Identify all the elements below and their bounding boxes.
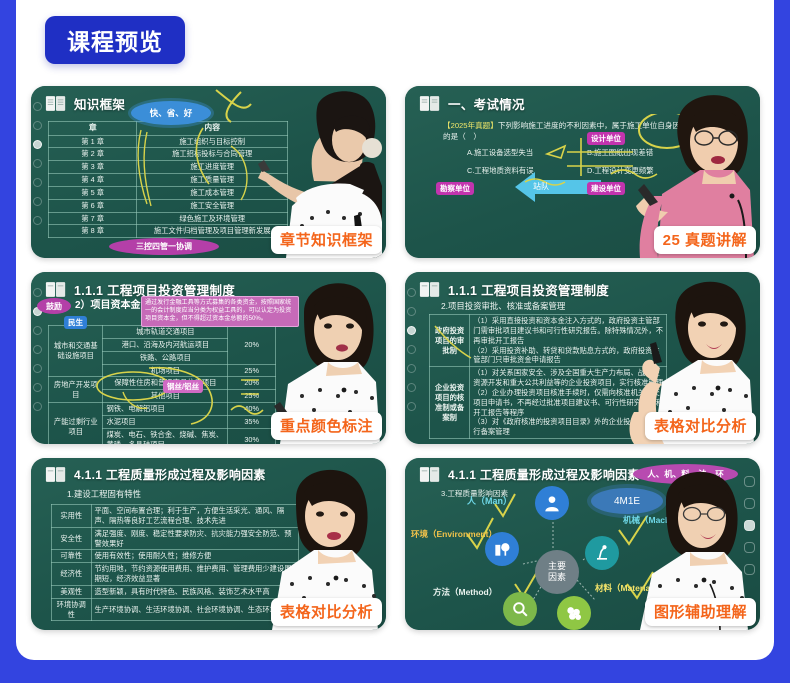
section-label: 1.建设工程固有特性	[67, 488, 141, 500]
chip-minsheng: 民生	[64, 316, 87, 329]
node-material	[557, 596, 591, 630]
preview-card-1[interactable]: 知识框架 快、省、好 章 内容	[31, 86, 386, 258]
book-icon	[45, 281, 67, 298]
node-machine	[585, 536, 619, 570]
option-c: C.工程地质资料有误	[467, 166, 587, 177]
question-tag: 【2025年真题】	[443, 121, 498, 130]
option-a: A.施工设备选型失当	[467, 148, 587, 159]
preview-panel: 课程预览 知识框架	[16, 0, 774, 660]
card-title: 1.1.1 工程项目投资管理制度	[448, 280, 609, 299]
encourage-label: 鼓励	[46, 301, 62, 312]
arrow-label: 站队	[533, 181, 549, 193]
card-tag: 表格对比分析	[271, 598, 382, 626]
center-node-label: 主要因素	[547, 561, 567, 584]
course-preview-grid: 知识框架 快、省、好 章 内容	[31, 86, 775, 644]
magnifier-icon	[511, 600, 530, 619]
player-left-rail	[32, 102, 44, 248]
cloud-callout: 快、省、好	[131, 101, 211, 125]
callout-survey-unit: 勘察单位	[436, 182, 474, 195]
section-label: 2.项目投资审批、核准或备案管理	[441, 300, 565, 312]
node-method	[503, 592, 537, 626]
table-row: 房地产开发项目保障性住房和普通商品住房项目20%	[49, 377, 276, 390]
footer-callout: 三控四管一协调	[109, 238, 219, 255]
investment-table-wrap: 城市和交通基础设施项目城市轨道交通项目20% 港口、沿海及内河航运项目 铁路、公…	[48, 325, 276, 444]
page-title: 课程预览	[67, 23, 163, 57]
player-left-rail	[406, 288, 418, 434]
tree-building-icon	[492, 539, 512, 559]
table-row: 第 8 章施工文件归档管理及项目管理新发展	[49, 225, 288, 238]
book-icon	[45, 95, 67, 112]
pipes-icon	[564, 603, 584, 623]
node-label-man: 人（Man）	[467, 494, 512, 507]
page-title-badge: 课程预览	[45, 16, 185, 64]
card-title: 4.1.1 工程质量形成过程及影响因素	[448, 466, 640, 483]
card-title: 一、考试情况	[448, 94, 525, 113]
card-tag: 25 真题讲解	[654, 226, 756, 254]
book-icon	[419, 281, 441, 298]
card-tag: 图形辅助理解	[645, 598, 756, 626]
row-label: 企业投资项目的核准制或备案制	[430, 367, 470, 439]
book-icon	[419, 466, 441, 483]
preview-card-6[interactable]: 4.1.1 工程质量形成过程及影响因素 人、机、料、法、环 3.工程质量影响因素…	[405, 458, 760, 630]
person-icon	[542, 493, 562, 513]
chapter-table: 章 内容 第 1 章施工组织与目标控制 第 2 章施工招标投标与合同管理 第 3…	[48, 121, 288, 238]
book-icon	[45, 466, 67, 483]
investment-table: 城市和交通基础设施项目城市轨道交通项目20% 港口、沿海及内河航运项目 铁路、公…	[48, 325, 276, 444]
chip-gangsi: 钢丝/铝丝	[163, 380, 203, 393]
chapter-table-wrap: 章 内容 第 1 章施工组织与目标控制 第 2 章施工招标投标与合同管理 第 3…	[48, 121, 288, 238]
node-center: 主要因素	[535, 550, 579, 594]
table-row: 第 5 章施工成本管理	[49, 186, 288, 199]
preview-card-3[interactable]: 1.1.1 工程项目投资管理制度 鼓励 2）项目资本金比例 通过发行金融工具等方…	[31, 272, 386, 444]
card-tag: 章节知识框架	[271, 226, 382, 254]
th-chapter: 章	[49, 122, 137, 136]
card-title: 知识框架	[74, 94, 125, 113]
table-row: 第 1 章施工组织与目标控制	[49, 135, 288, 148]
table-row: 第 3 章施工进度管理	[49, 161, 288, 174]
card-title: 4.1.1 工程质量形成过程及影响因素	[74, 466, 266, 483]
callout-design-unit: 设计单位	[587, 132, 625, 145]
row-label: 政府投资项目的审批制	[430, 315, 470, 367]
table-row: 第 7 章绿色施工及环境管理	[49, 212, 288, 225]
node-person	[535, 486, 569, 520]
node-label-method: 方法（Method）	[433, 586, 497, 598]
encourage-bubble: 鼓励	[37, 298, 71, 314]
table-row: 第 2 章施工招标投标与合同管理	[49, 148, 288, 161]
preview-card-2[interactable]: 一、考试情况 【2025年真题】下列影响施工进度的不利因素中，属于施工单位自身因…	[405, 86, 760, 258]
table-row: 产能过剩行业项目钢铁、电解铝项目40%	[49, 403, 276, 416]
footer-callout-label: 三控四管一协调	[136, 241, 192, 252]
callout-construction-unit: 建设单位	[587, 182, 625, 195]
preview-card-5[interactable]: 4.1.1 工程质量形成过程及影响因素 1.建设工程固有特性 实用性平面、空间布…	[31, 458, 386, 630]
cloud-label: 快、省、好	[150, 107, 193, 119]
node-label-environment: 环境（Environment）	[411, 528, 497, 540]
card-tag: 表格对比分析	[645, 412, 756, 440]
card-tag: 重点颜色标注	[271, 412, 382, 440]
table-row: 第 4 章施工质量管理	[49, 174, 288, 187]
robot-arm-icon	[592, 543, 612, 563]
preview-card-4[interactable]: 1.1.1 工程项目投资管理制度 2.项目投资审批、核准或备案管理 政府投资项目…	[405, 272, 760, 444]
table-row: 第 6 章施工安全管理	[49, 199, 288, 212]
book-icon	[419, 95, 441, 112]
